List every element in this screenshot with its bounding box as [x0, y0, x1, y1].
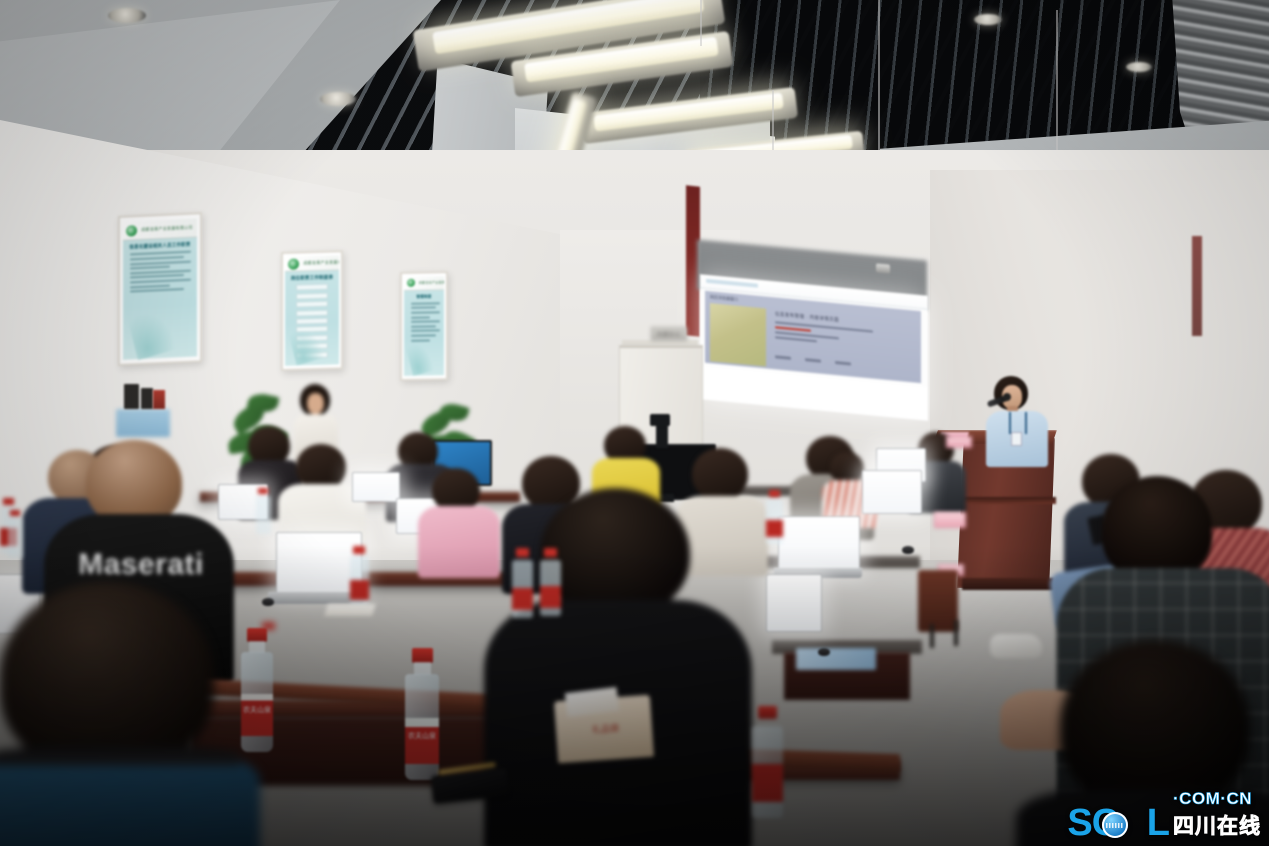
- bottle-cap: [544, 548, 557, 557]
- watermark-scol: SCOL ·COM·CN 四川在线: [1067, 789, 1261, 840]
- poster-title: 管理制度: [409, 294, 439, 300]
- projector-icon: [876, 263, 890, 273]
- water-bottle: [350, 546, 370, 608]
- downlight-icon: [320, 92, 356, 106]
- attendee-top: [418, 506, 500, 578]
- company-logo-icon: [288, 258, 299, 269]
- wall-box: [124, 384, 139, 409]
- browser-tab: [706, 279, 758, 288]
- water-bottle: 农夫山泉: [404, 648, 440, 780]
- bottle-cap: [262, 622, 275, 630]
- poster-decor-leaf-icon: [405, 339, 434, 376]
- poster-title: 信息化建设相关人员工作职责: [128, 242, 192, 251]
- downlight-icon: [974, 14, 1002, 25]
- bottle-cap: [258, 488, 268, 494]
- name-placard: [946, 436, 972, 448]
- company-logo-icon: [407, 279, 415, 287]
- projection-screen: 网页浏览器窗口 信息发布管理 · 内容详情页面: [700, 274, 928, 421]
- watermark-chinese: 四川在线: [1173, 810, 1261, 840]
- bottle-body: [256, 496, 271, 534]
- chair-right[interactable]: [918, 570, 958, 632]
- projected-thumbnail-image: [710, 303, 766, 366]
- suspension-wire: [772, 90, 774, 150]
- speaker-lanyard: [1009, 412, 1027, 434]
- projected-button: [775, 355, 791, 359]
- poster-title: 岗位职责工作制度表: [290, 275, 333, 282]
- podium-base: [962, 578, 1054, 590]
- poster-body: 管理制度: [404, 290, 444, 376]
- chair-leg: [930, 624, 934, 648]
- attendee-collar: [0, 746, 240, 766]
- bottle-body: [8, 518, 23, 558]
- attendee-top: [676, 496, 768, 576]
- bottle-label: [752, 764, 783, 802]
- bottle-label: [512, 588, 533, 610]
- projected-button: [805, 358, 821, 362]
- watermark-brand: SCOL: [1067, 806, 1169, 840]
- bottle-label: 农夫山泉: [241, 694, 273, 736]
- bottle-cap: [3, 498, 14, 505]
- name-placard: [934, 512, 966, 528]
- poster-decor-leaf-icon: [127, 306, 177, 361]
- bottle-label: 农夫山泉: [405, 718, 439, 764]
- laptop-screen[interactable]: [778, 516, 860, 572]
- downlight-icon: [1126, 62, 1152, 72]
- laptop-screen[interactable]: [766, 574, 822, 632]
- suspension-wire: [1056, 10, 1058, 150]
- poster-header: 成都龙泉产业发展有限公司: [404, 276, 444, 290]
- water-bottle: [752, 706, 784, 818]
- watermark-brand-tail: L: [1147, 802, 1169, 844]
- wall-poster-left: 成都龙泉产业发展有限公司 信息化建设相关人员工作职责: [118, 212, 202, 366]
- paper-bag-text: 礼品袋: [592, 721, 620, 736]
- bottle-cap: [516, 548, 529, 557]
- chair-leg: [954, 620, 958, 646]
- poster-body: 信息化建设相关人员工作职责: [123, 238, 197, 360]
- bottle-label: [540, 586, 561, 608]
- downlight-icon: [108, 8, 146, 23]
- microphone-head-icon: [1003, 393, 1011, 401]
- poster-header-text: 成都龙泉产业发展有限公司: [419, 281, 444, 285]
- mouse-icon[interactable]: [902, 546, 914, 554]
- suspension-wire: [878, 0, 880, 150]
- poster-body: 岗位职责工作制度表: [285, 271, 338, 366]
- water-bottle: [256, 488, 272, 534]
- laptop-screen[interactable]: [352, 472, 400, 502]
- door-sign: 内部办公: [651, 327, 687, 341]
- podium-lip: [952, 497, 1056, 504]
- bottle-cap: [769, 490, 780, 497]
- bottle-label: [766, 520, 783, 537]
- bottle-cap: [353, 546, 365, 554]
- poster-header-text: 成都龙泉产业发展有限公司: [141, 225, 193, 233]
- mousepad: [796, 648, 876, 670]
- attendee-hair: [540, 488, 690, 618]
- projected-buttons: [775, 355, 851, 365]
- bottle-cap: [412, 648, 433, 663]
- wall-shelf: [116, 409, 170, 437]
- fire-equipment-box: [153, 390, 165, 409]
- suspension-wire: [700, 0, 702, 46]
- paper-sheet: [325, 604, 376, 616]
- attendee-hair: [1060, 640, 1250, 810]
- speaker-badge: [1011, 432, 1022, 446]
- bottle-label: [350, 580, 369, 600]
- attendee-face: [307, 393, 324, 414]
- mouse-icon[interactable]: [818, 648, 830, 656]
- attendee-top: [0, 752, 260, 846]
- wall-poster-right: 成都龙泉产业发展有限公司 管理制度: [400, 271, 448, 381]
- photograph-training-room: 成都龙泉产业发展有限公司 信息化建设相关人员工作职责 成都龙泉产业发展有限公司 …: [0, 0, 1269, 846]
- water-bottle: [512, 548, 534, 618]
- company-logo-icon: [126, 225, 137, 236]
- bottle-cap: [10, 510, 20, 516]
- poster-header-text: 成都龙泉产业发展有限公司: [303, 260, 338, 267]
- poster-header: 成都龙泉产业发展有限公司: [285, 256, 338, 272]
- watermark-text-block: ·COM·CN 四川在线: [1173, 789, 1261, 840]
- attendee-hair-bun: [1102, 476, 1212, 580]
- water-bottle: [540, 548, 562, 616]
- wall-accent-stripe: [1192, 236, 1202, 336]
- water-bottle: [258, 622, 280, 664]
- projected-button: [835, 361, 851, 365]
- laptop-screen[interactable]: [862, 470, 922, 514]
- attendee-shirt-text: Maserati: [66, 548, 216, 582]
- bottle-cap: [758, 706, 777, 719]
- attendee-sneaker: [990, 634, 1042, 658]
- mouse-icon[interactable]: [262, 598, 274, 606]
- wall-poster-middle: 成都龙泉产业发展有限公司 岗位职责工作制度表: [281, 250, 343, 371]
- projected-panel-title: 网页浏览器窗口: [710, 294, 738, 303]
- camera-head-icon: [650, 414, 670, 426]
- projected-text-block: 信息发布管理 · 内容详情页面: [775, 311, 915, 354]
- water-bottle: [8, 510, 24, 558]
- water-bottle: [766, 490, 784, 544]
- watermark-domain: ·COM·CN: [1173, 789, 1252, 809]
- wall-box: [141, 388, 153, 409]
- attendee-hair: [0, 582, 214, 772]
